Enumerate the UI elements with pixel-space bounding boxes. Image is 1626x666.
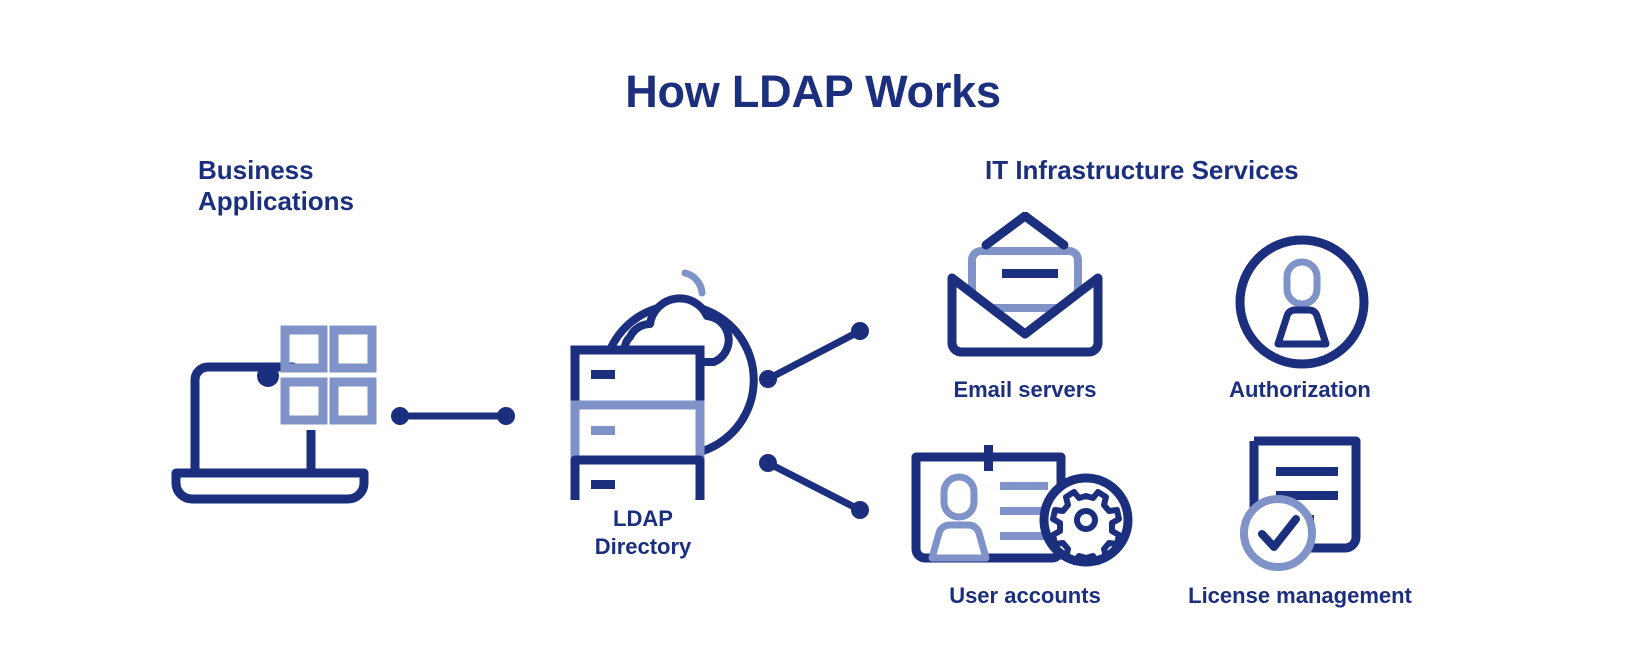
user-circle-icon [1232,232,1372,372]
connector-dot [391,407,409,425]
user-body [1278,310,1326,344]
id-card-gear-icon [908,445,1138,575]
node-label-ldap-line1: LDAP [543,505,743,533]
app-square [334,382,372,420]
node-label-license-management: License management [1155,582,1445,610]
app-square [285,382,323,420]
card-info-line [1000,532,1048,540]
diagram-canvas: How LDAP Works Business Applications IT … [0,0,1626,666]
letter-line [1002,269,1058,278]
node-label-authorization: Authorization [1175,376,1425,404]
connector-dot [851,322,869,340]
document-line [1276,467,1338,476]
connector-client-to-ldap [391,407,515,425]
connector-ldap-to-user-accounts [759,454,869,519]
node-label-ldap-directory: LDAP Directory [543,505,743,560]
id-card-tab [984,445,993,471]
node-label-ldap-line2: Directory [543,533,743,561]
document-check-icon [1238,435,1388,575]
server-stack-cloud-icon [535,240,765,500]
laptop-app-grid-icon [168,320,378,505]
app-square [334,330,372,368]
envelope-letter [972,251,1078,308]
card-person-head [944,477,974,517]
app-square [285,330,323,368]
server-indicator [591,480,615,489]
check-circle [1244,499,1312,567]
node-label-email-servers: Email servers [900,376,1150,404]
envelope-flap [986,216,1064,245]
server-indicator [591,426,615,435]
envelope-icon [940,212,1110,362]
cloud-highlight [685,273,702,293]
connector-dot [497,407,515,425]
card-person-body [932,525,986,558]
user-head [1287,262,1317,304]
connector-dot [851,501,869,519]
node-label-user-accounts: User accounts [900,582,1150,610]
card-info-line [1000,482,1048,490]
laptop-connection-dot [257,365,279,387]
connector-ldap-to-email [759,322,869,388]
server-indicator [591,370,615,379]
